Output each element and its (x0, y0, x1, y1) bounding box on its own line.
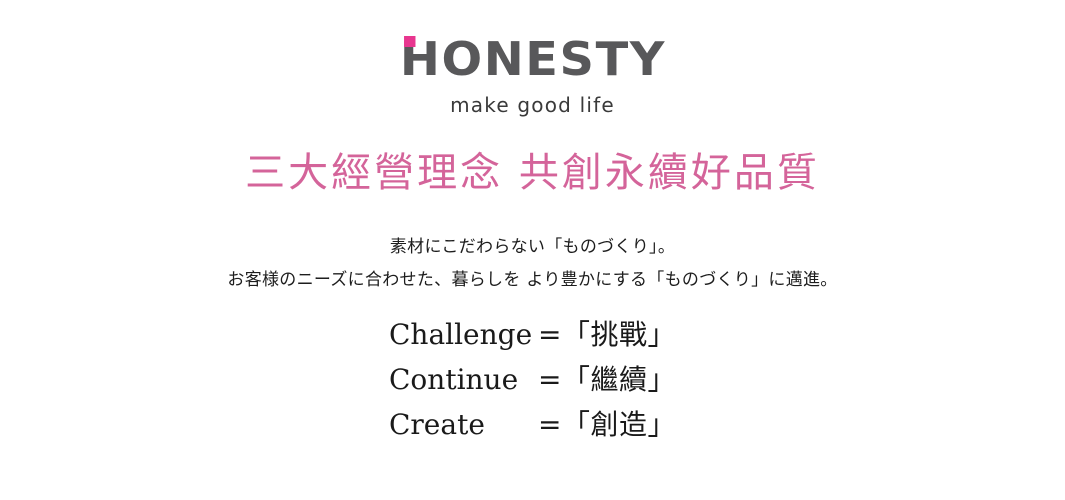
brand-wordmark: HONESTY (399, 34, 665, 84)
body-copy: 素材にこだわらない「ものづくり」。 お客様のニーズに合わせた、暮らしを より豊か… (0, 231, 1065, 297)
brand-wordmark-text: HONESTY (399, 32, 665, 86)
body-line: お客様のニーズに合わせた、暮らしを より豊かにする「ものづくり」に邁進。 (0, 264, 1065, 297)
principle-value: =「繼續」 (538, 357, 676, 402)
page-title: 三大經營理念 共創永續好品質 (0, 147, 1065, 199)
list-item: Create =「創造」 (389, 402, 676, 447)
brand-logo-block: HONESTY make good life (0, 34, 1065, 117)
principle-value: =「創造」 (538, 402, 676, 447)
brand-tagline: make good life (0, 93, 1065, 117)
list-item: Challenge =「挑戰」 (389, 312, 676, 357)
body-line: 素材にこだわらない「ものづくり」。 (0, 231, 1065, 264)
company-philosophy-page: HONESTY make good life 三大經營理念 共創永續好品質 素材… (0, 0, 1065, 500)
principle-term: Continue (389, 357, 518, 402)
principle-term: Create (389, 402, 485, 447)
principles-list: Challenge =「挑戰」 Continue =「繼續」 Create =「… (0, 312, 1065, 447)
principle-value: =「挑戰」 (538, 312, 676, 357)
principle-term: Challenge (389, 312, 532, 357)
list-item: Continue =「繼續」 (389, 357, 676, 402)
square-dot-icon (404, 36, 415, 47)
